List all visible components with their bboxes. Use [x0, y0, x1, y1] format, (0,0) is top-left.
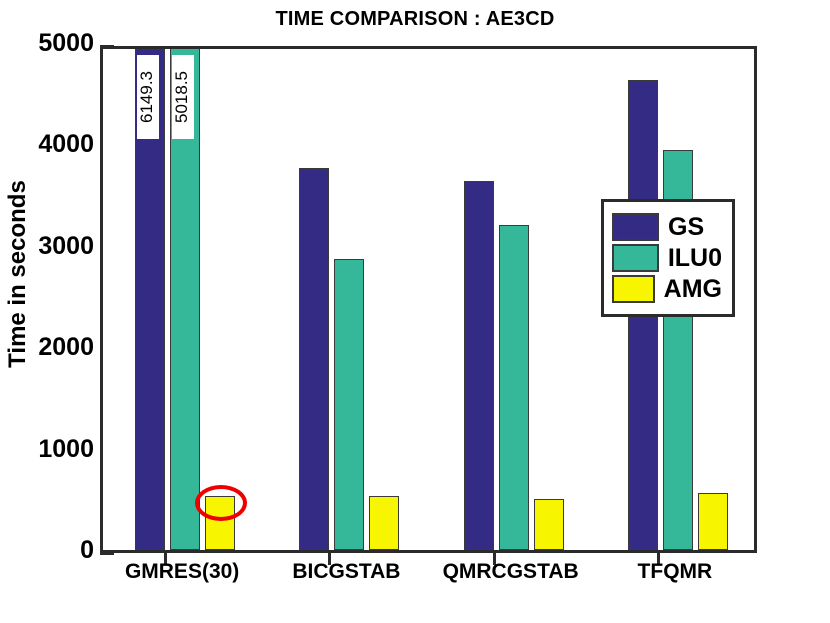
x-axis-tick-label: TFQMR — [593, 560, 757, 584]
bar-gs-qmrcgstab — [464, 181, 494, 550]
bar-amg-tfqmr — [698, 493, 728, 550]
y-axis-label: Time in seconds — [4, 64, 32, 484]
legend-item-gs[interactable]: GS — [612, 213, 722, 241]
bar-amg-qmrcgstab — [534, 499, 564, 550]
red-ellipse-annotation — [195, 485, 247, 521]
bar-value-label: 6149.3 — [137, 55, 159, 139]
x-axis-tick-label: BICGSTAB — [264, 560, 428, 584]
bar-gs-bicgstab — [299, 168, 329, 550]
bar-ilu0-qmrcgstab — [499, 225, 529, 550]
legend-swatch-gs — [612, 213, 659, 241]
legend-label: GS — [668, 215, 704, 240]
chart-title: TIME COMPARISON : AE3CD — [0, 8, 830, 31]
legend-item-amg[interactable]: AMG — [612, 275, 722, 303]
chart-figure: TIME COMPARISON : AE3CD Time in seconds … — [0, 0, 830, 623]
y-axis-tick-label: 4000 — [0, 130, 94, 159]
legend-swatch-ilu0 — [612, 244, 659, 272]
x-axis-tick-label: GMRES(30) — [100, 560, 264, 584]
legend[interactable]: GSILU0AMG — [601, 199, 735, 317]
legend-item-ilu0[interactable]: ILU0 — [612, 244, 722, 272]
y-axis-tick-label: 1000 — [0, 435, 94, 464]
y-axis-tick-label: 0 — [0, 536, 94, 565]
x-axis-tick-label: QMRCGSTAB — [429, 560, 593, 584]
bar-ilu0-bicgstab — [334, 259, 364, 550]
y-axis-tick-label: 5000 — [0, 29, 94, 58]
bar-value-label: 5018.5 — [172, 55, 194, 139]
legend-swatch-amg — [612, 275, 655, 303]
legend-label: AMG — [664, 277, 722, 302]
y-axis-tick-label: 3000 — [0, 232, 94, 261]
legend-label: ILU0 — [668, 246, 722, 271]
y-axis-tick-label: 2000 — [0, 333, 94, 362]
bar-amg-bicgstab — [369, 496, 399, 550]
